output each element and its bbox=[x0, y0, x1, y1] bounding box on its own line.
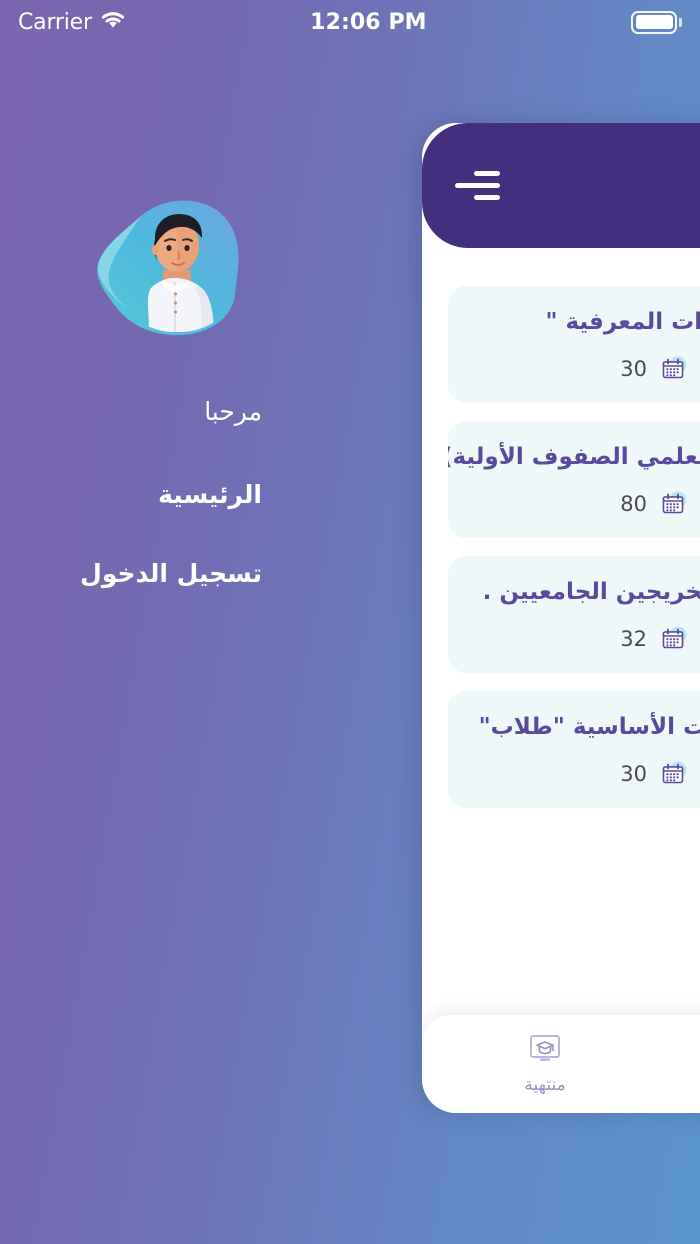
nav-label-finished: منتهية bbox=[524, 1075, 565, 1095]
carrier-label: Carrier bbox=[18, 10, 92, 35]
course-list[interactable]: دورة "المهارات المعرفية " bbox=[422, 248, 700, 1015]
status-bar-clock: 12:06 PM bbox=[106, 10, 631, 35]
calendar-icon bbox=[659, 759, 689, 789]
status-bar: Carrier 12:06 PM bbox=[0, 0, 700, 44]
battery-fill bbox=[636, 15, 673, 29]
status-bar-right bbox=[631, 11, 682, 34]
drawer-item-greeting: مرحبا bbox=[0, 399, 270, 424]
hamburger-line-2 bbox=[455, 183, 500, 188]
calendar-icon bbox=[659, 489, 689, 519]
course-meta: 80 bbox=[474, 489, 700, 519]
course-meta: 30 bbox=[474, 759, 700, 789]
course-count: 80 bbox=[620, 492, 647, 516]
bottom-navigation-bar: منتهية bbox=[422, 1015, 700, 1113]
drawer-menu: مرحبا الرئيسية تسجيل الدخول bbox=[0, 399, 270, 640]
hamburger-menu-icon[interactable] bbox=[448, 166, 500, 206]
list-item[interactable]: دورة تأهيل معلمي الصفوف الأولية) bbox=[448, 421, 700, 538]
course-count: 30 bbox=[620, 357, 647, 381]
monitor-graduation-cap-icon bbox=[528, 1034, 562, 1068]
content-panel: الرئيسية دورة "المهارات المعرفية " bbox=[422, 123, 700, 1113]
course-meta: 30 bbox=[474, 354, 700, 384]
hamburger-line-3 bbox=[474, 195, 500, 200]
list-item[interactable]: دورة المهارات الأساسية "طلاب" bbox=[448, 691, 700, 808]
course-title: دورة تأهيل معلمي الصفوف الأولية) bbox=[474, 443, 700, 472]
sidebar-item-home[interactable]: الرئيسية bbox=[0, 482, 270, 507]
hamburger-line-1 bbox=[474, 171, 500, 176]
battery-full-icon bbox=[631, 11, 677, 34]
course-count: 32 bbox=[620, 627, 647, 651]
course-meta: 32 bbox=[474, 624, 700, 654]
sidebar-item-login[interactable]: تسجيل الدخول bbox=[0, 561, 270, 586]
course-title: دورة المهارات الأساسية "طلاب" bbox=[474, 713, 700, 742]
nav-item-finished[interactable]: منتهية bbox=[500, 1034, 590, 1095]
course-title: دورة "المهارات المعرفية " bbox=[474, 308, 700, 337]
calendar-icon bbox=[659, 354, 689, 384]
list-item[interactable]: دورة "المهارات المعرفية " bbox=[448, 286, 700, 403]
calendar-icon bbox=[659, 624, 689, 654]
list-item[interactable]: دورة إعداد الخريجين الجامعيين . bbox=[448, 556, 700, 673]
navigation-drawer: مرحبا الرئيسية تسجيل الدخول bbox=[0, 44, 422, 1244]
user-avatar-illustration bbox=[83, 194, 268, 349]
app-bar: الرئيسية bbox=[422, 123, 700, 248]
course-count: 30 bbox=[620, 762, 647, 786]
battery-cap bbox=[679, 18, 682, 27]
course-title: دورة إعداد الخريجين الجامعيين . bbox=[474, 578, 700, 607]
page-title: الرئيسية bbox=[500, 171, 700, 200]
app-root: Carrier 12:06 PM bbox=[0, 0, 700, 1244]
